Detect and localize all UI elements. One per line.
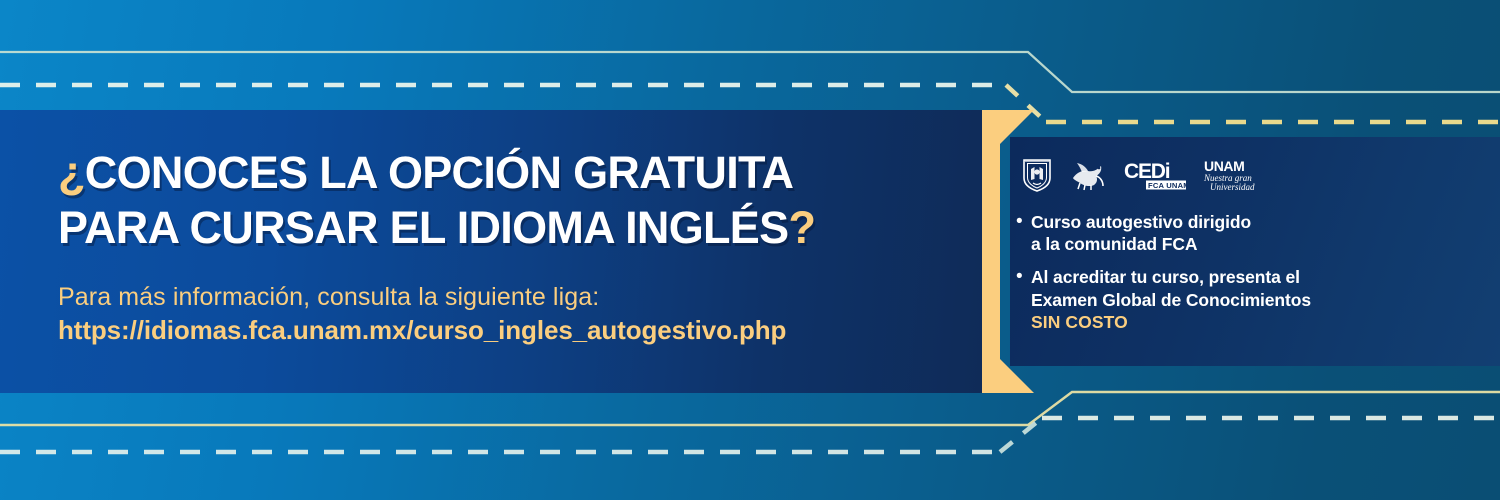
- bullet-marker-icon: •: [1016, 266, 1031, 288]
- headline-opening-question-mark: ¿: [58, 147, 85, 198]
- bullet-1-line-1: Curso autogestivo dirigido: [1031, 212, 1251, 232]
- headline-line-2: PARA CURSAR EL IDIOMA INGLÉS: [58, 202, 788, 253]
- unam-shield-logo: [1022, 158, 1052, 192]
- bullet-2-line-2: Examen Global de Conocimientos: [1031, 290, 1311, 310]
- bracket-bar: [982, 110, 1000, 393]
- logo-strip: CEDi FCA UNAM UNAM Nuestra gran Universi…: [1022, 157, 1259, 193]
- subtext-block: Para más información, consulta la siguie…: [58, 281, 978, 347]
- bottom-dashed-diagonal: [1000, 418, 1042, 452]
- headline: ¿CONOCES LA OPCIÓN GRATUITA PARA CURSAR …: [58, 146, 958, 256]
- bullet-marker-icon: •: [1016, 211, 1031, 233]
- sin-costo-badge: SIN COSTO: [1031, 311, 1311, 333]
- bullet-item-2: • Al acreditar tu curso, presenta el Exa…: [1016, 266, 1486, 333]
- more-info-label: Para más información, consulta la siguie…: [58, 281, 978, 313]
- bullet-item-1-text: Curso autogestivo dirigido a la comunida…: [1031, 211, 1251, 255]
- bullet-list: • Curso autogestivo dirigido a la comuni…: [1016, 211, 1486, 344]
- bullet-item-2-text: Al acreditar tu curso, presenta el Exame…: [1031, 266, 1311, 333]
- unam-nuestra-gran-universidad-logo: UNAM Nuestra gran Universidad: [1203, 158, 1259, 192]
- bullet-1-line-2: a la comunidad FCA: [1031, 234, 1197, 254]
- svg-text:Universidad: Universidad: [1210, 182, 1255, 192]
- svg-text:UNAM: UNAM: [1204, 158, 1244, 174]
- headline-closing-question-mark: ?: [788, 202, 815, 253]
- bullet-2-line-1: Al acreditar tu curso, presenta el: [1031, 267, 1300, 287]
- svg-text:FCA UNAM: FCA UNAM: [1148, 181, 1186, 190]
- promo-banner: ¿CONOCES LA OPCIÓN GRATUITA PARA CURSAR …: [0, 0, 1500, 500]
- svg-text:CEDi: CEDi: [1124, 160, 1170, 183]
- bullet-item-1: • Curso autogestivo dirigido a la comuni…: [1016, 211, 1486, 255]
- fca-pegasus-logo: [1069, 159, 1107, 191]
- course-link[interactable]: https://idiomas.fca.unam.mx/curso_ingles…: [58, 314, 978, 347]
- headline-line-1: CONOCES LA OPCIÓN GRATUITA: [85, 147, 793, 198]
- cedi-logo: CEDi FCA UNAM: [1124, 159, 1186, 191]
